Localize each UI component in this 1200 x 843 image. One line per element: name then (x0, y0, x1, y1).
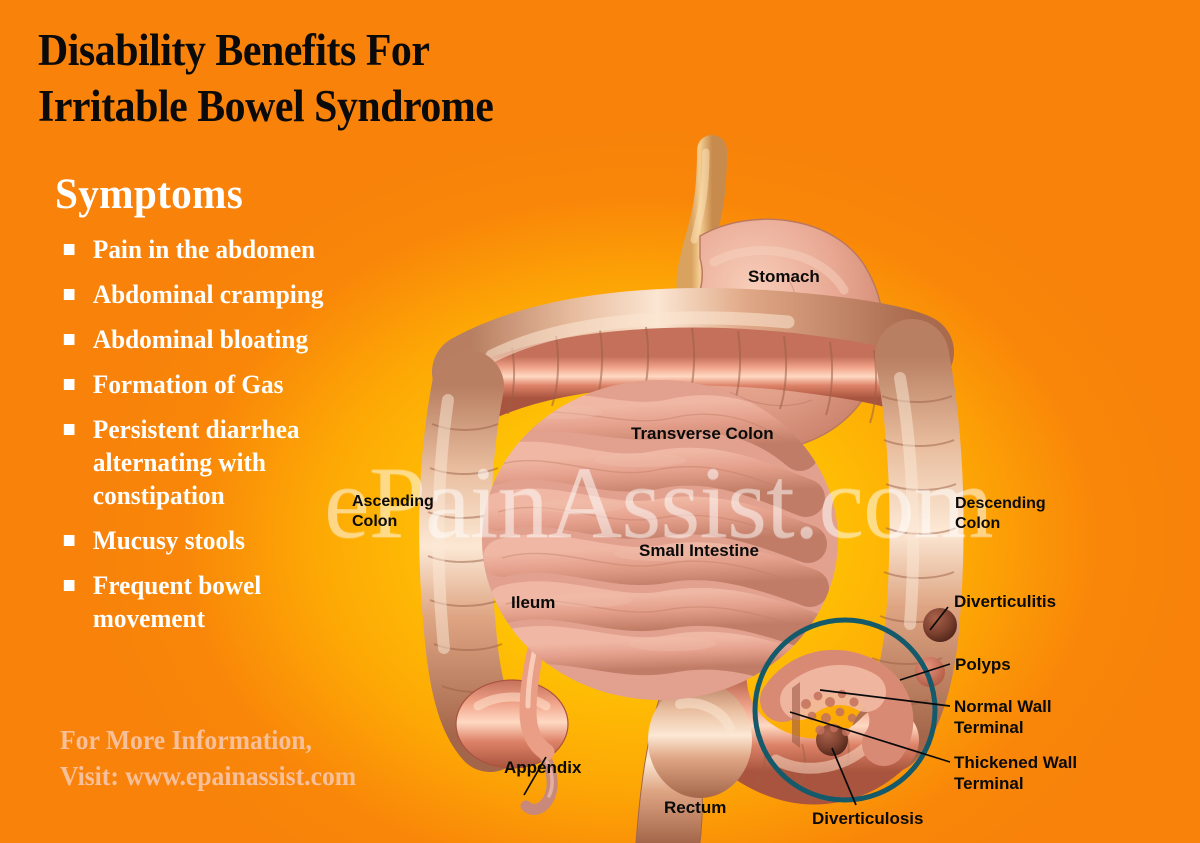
bullet-square-icon (64, 580, 75, 591)
label-diverticulitis: Diverticulitis (954, 591, 1056, 612)
infographic-canvas: ePainAssist.com Disability Benefits For … (0, 0, 1200, 843)
list-item: Abdominal cramping (58, 278, 378, 311)
symptoms-heading: Symptoms (55, 170, 243, 219)
symptom-text: Mucusy stools (93, 526, 245, 555)
list-item: Frequent bowel movement (58, 569, 378, 635)
footer-line-2: Visit: www.epainassist.com (60, 758, 507, 794)
symptom-text: Pain in the abdomen (93, 235, 315, 264)
bullet-square-icon (64, 289, 75, 300)
label-small-intestine: Small Intestine (639, 540, 759, 561)
label-appendix: Appendix (504, 757, 581, 778)
label-transverse-colon: Transverse Colon (631, 423, 774, 444)
symptom-text: Abdominal bloating (93, 325, 308, 354)
label-ascending-colon: Ascending Colon (352, 492, 434, 532)
bullet-square-icon (64, 334, 75, 345)
symptom-text: Abdominal cramping (93, 280, 324, 309)
symptom-text: Persistent diarrhea alternating with con… (93, 415, 300, 510)
label-normal-wall-terminal: Normal Wall Terminal (954, 696, 1052, 738)
bullet-square-icon (64, 244, 75, 255)
page-title: Disability Benefits For Irritable Bowel … (38, 22, 652, 134)
label-descending-colon: Descending Colon (955, 494, 1046, 534)
footer-contact: For More Information, Visit: www.epainas… (60, 722, 507, 794)
bullet-square-icon (64, 424, 75, 435)
symptom-text: Frequent bowel movement (93, 571, 261, 633)
label-ileum: Ileum (511, 592, 555, 613)
symptoms-list: Pain in the abdomen Abdominal cramping A… (58, 233, 388, 647)
label-rectum: Rectum (664, 797, 726, 818)
list-item: Mucusy stools (58, 524, 378, 557)
label-stomach: Stomach (748, 266, 820, 287)
footer-line-1: For More Information, (60, 722, 507, 758)
list-item: Pain in the abdomen (58, 233, 378, 266)
bullet-square-icon (64, 535, 75, 546)
symptom-text: Formation of Gas (93, 370, 284, 399)
list-item: Persistent diarrhea alternating with con… (58, 413, 378, 512)
bullet-square-icon (64, 379, 75, 390)
label-thickened-wall-terminal: Thickened Wall Terminal (954, 752, 1077, 794)
page-title-line-2: Irritable Bowel Syndrome (38, 78, 652, 134)
list-item: Formation of Gas (58, 368, 378, 401)
list-item: Abdominal bloating (58, 323, 378, 356)
page-title-line-1: Disability Benefits For (38, 22, 652, 78)
label-diverticulosis: Diverticulosis (812, 808, 924, 829)
label-polyps: Polyps (955, 654, 1011, 675)
